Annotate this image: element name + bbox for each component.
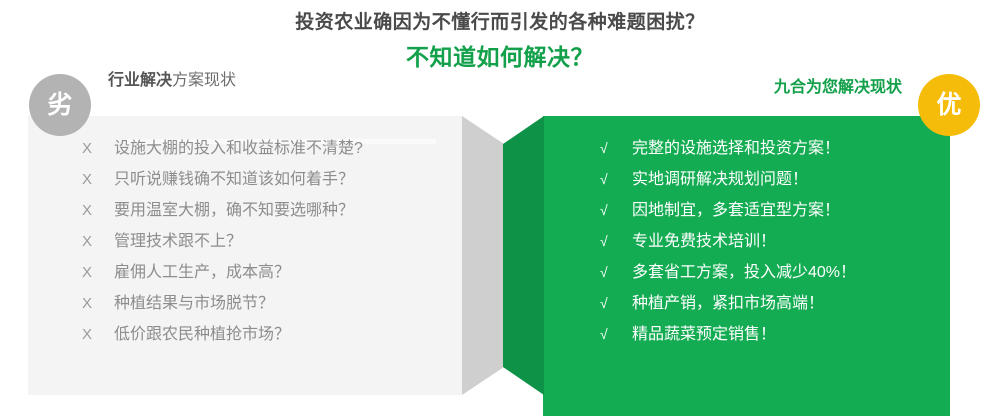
headline-secondary: 不知道如何解决？	[0, 36, 1000, 73]
problems-panel-fold	[462, 116, 504, 395]
list-item-label: 专业免费技术培训！	[632, 234, 776, 250]
list-item: X 要用温室大棚，确不知要选哪种？	[82, 203, 452, 234]
check-icon: √	[600, 203, 632, 217]
list-item: X 设施大棚的投入和收益标准不清楚?	[82, 141, 452, 172]
list-item: √ 完整的设施选择和投资方案！	[600, 141, 950, 172]
check-icon: √	[600, 234, 632, 248]
cross-icon: X	[82, 172, 114, 187]
list-item-label: 精品蔬菜预定销售！	[632, 327, 776, 343]
solutions-list: √ 完整的设施选择和投资方案！ √ 实地调研解决规划问题！ √ 因地制宜，多套适…	[600, 141, 950, 358]
cross-icon: X	[82, 141, 114, 156]
check-icon: √	[600, 141, 632, 155]
list-item-label: 设施大棚的投入和收益标准不清楚?	[114, 141, 363, 157]
list-item-label: 低价跟农民种植抢市场？	[114, 327, 290, 343]
cross-icon: X	[82, 234, 114, 249]
list-item: X 雇佣人工生产，成本高？	[82, 265, 452, 296]
solutions-caption: 九合为您解决现状	[774, 80, 902, 96]
list-item: √ 因地制宜，多套适宜型方案！	[600, 203, 950, 234]
list-item: √ 种植产销，紧扣市场高端！	[600, 296, 950, 327]
badge-superior: 优	[918, 74, 980, 136]
cross-icon: X	[82, 203, 114, 218]
check-icon: √	[600, 327, 632, 341]
check-icon: √	[600, 265, 632, 279]
list-item: √ 实地调研解决规划问题！	[600, 172, 950, 203]
list-item-label: 完整的设施选择和投资方案！	[632, 141, 840, 157]
problems-caption-rest: 方案现状	[172, 72, 236, 89]
cross-icon: X	[82, 265, 114, 280]
cross-icon: X	[82, 327, 114, 342]
list-item-label: 实地调研解决规划问题！	[632, 172, 808, 188]
headline-block: 投资农业确因为不懂行而引发的各种难题困扰？ 不知道如何解决？	[0, 0, 1000, 73]
badge-inferior-label: 劣	[47, 93, 72, 118]
headline-primary: 投资农业确因为不懂行而引发的各种难题困扰？	[0, 0, 1000, 36]
check-icon: √	[600, 172, 632, 186]
check-icon: √	[600, 296, 632, 310]
list-item-label: 种植结果与市场脱节？	[114, 296, 274, 312]
cross-icon: X	[82, 296, 114, 311]
badge-superior-label: 优	[936, 93, 961, 118]
list-item: X 管理技术跟不上？	[82, 234, 452, 265]
problems-caption-strong: 行业解决	[108, 72, 172, 89]
infographic-comparison: 投资农业确因为不懂行而引发的各种难题困扰？ 不知道如何解决？ 劣 行业解决方案现…	[0, 0, 1000, 416]
list-item: √ 多套省工方案，投入减少40%！	[600, 265, 950, 296]
list-item-label: 雇佣人工生产，成本高？	[114, 265, 290, 281]
badge-inferior: 劣	[29, 74, 91, 136]
solutions-panel-fold	[503, 116, 544, 395]
list-item-label: 多套省工方案，投入减少40%！	[632, 265, 856, 281]
list-item: X 只听说赚钱确不知道该如何着手？	[82, 172, 452, 203]
list-item-label: 因地制宜，多套适宜型方案！	[632, 203, 840, 219]
list-item: √ 精品蔬菜预定销售！	[600, 327, 950, 358]
list-item-label: 种植产销，紧扣市场高端！	[632, 296, 824, 312]
problems-list: X 设施大棚的投入和收益标准不清楚? X 只听说赚钱确不知道该如何着手？ X 要…	[82, 141, 452, 358]
list-item: √ 专业免费技术培训！	[600, 234, 950, 265]
list-item-label: 只听说赚钱确不知道该如何着手？	[114, 172, 354, 188]
list-item-label: 管理技术跟不上？	[114, 234, 242, 250]
list-item: X 低价跟农民种植抢市场？	[82, 327, 452, 358]
list-item-label: 要用温室大棚，确不知要选哪种？	[114, 203, 354, 219]
problems-caption: 行业解决方案现状	[108, 73, 236, 89]
list-item: X 种植结果与市场脱节？	[82, 296, 452, 327]
